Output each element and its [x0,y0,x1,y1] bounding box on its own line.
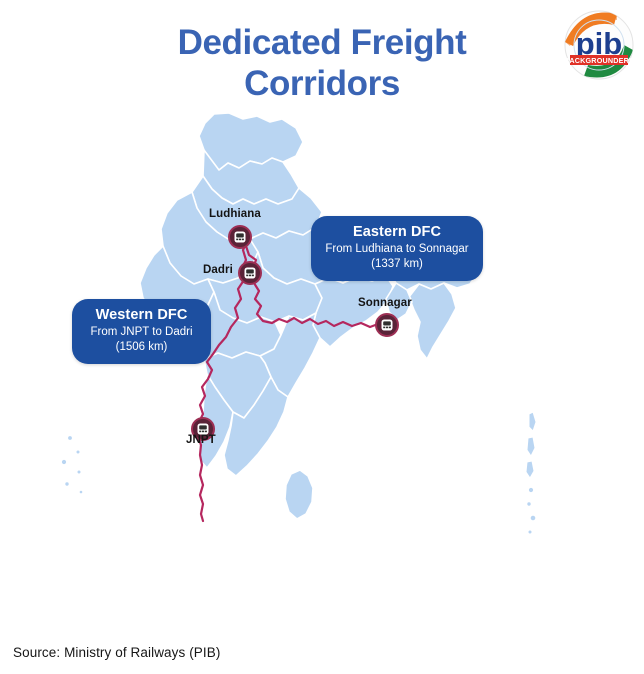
city-label-sonnagar: Sonnagar [358,297,412,309]
infographic-canvas: Dedicated Freight Corridors pib BACKGROU… [0,0,644,674]
source-bar: Source: Ministry of Railways (PIB) [0,630,644,674]
callout-eastern-dfc: Eastern DFC From Ludhiana to Sonnagar (1… [311,216,483,281]
train-icon [233,230,247,244]
callout-eastern-title: Eastern DFC [325,223,469,242]
city-marker-dadri [238,261,262,285]
train-icon [243,266,257,280]
logo-banner-text: BACKGROUNDERS [564,56,634,65]
train-icon [380,318,394,332]
pib-backgrounders-logo: pib BACKGROUNDERS [562,8,636,82]
city-label-dadri: Dadri [203,264,233,276]
city-marker-ludhiana [228,225,252,249]
page-title-line-2: Corridors [0,63,644,104]
callout-eastern-subtitle: From Ludhiana to Sonnagar [325,242,469,257]
city-label-jnpt: JNPT [186,434,216,446]
india-map [0,100,644,630]
callout-eastern-distance: (1337 km) [325,257,469,272]
callout-western-title: Western DFC [86,306,197,325]
city-marker-sonnagar [375,313,399,337]
callout-western-subtitle: From JNPT to Dadri [86,325,197,340]
source-text: Source: Ministry of Railways (PIB) [13,645,220,660]
city-label-ludhiana: Ludhiana [209,208,261,220]
page-title-line-1: Dedicated Freight [0,22,644,63]
page-title: Dedicated Freight Corridors [0,22,644,104]
callout-western-distance: (1506 km) [86,340,197,355]
callout-western-dfc: Western DFC From JNPT to Dadri (1506 km) [72,299,211,364]
